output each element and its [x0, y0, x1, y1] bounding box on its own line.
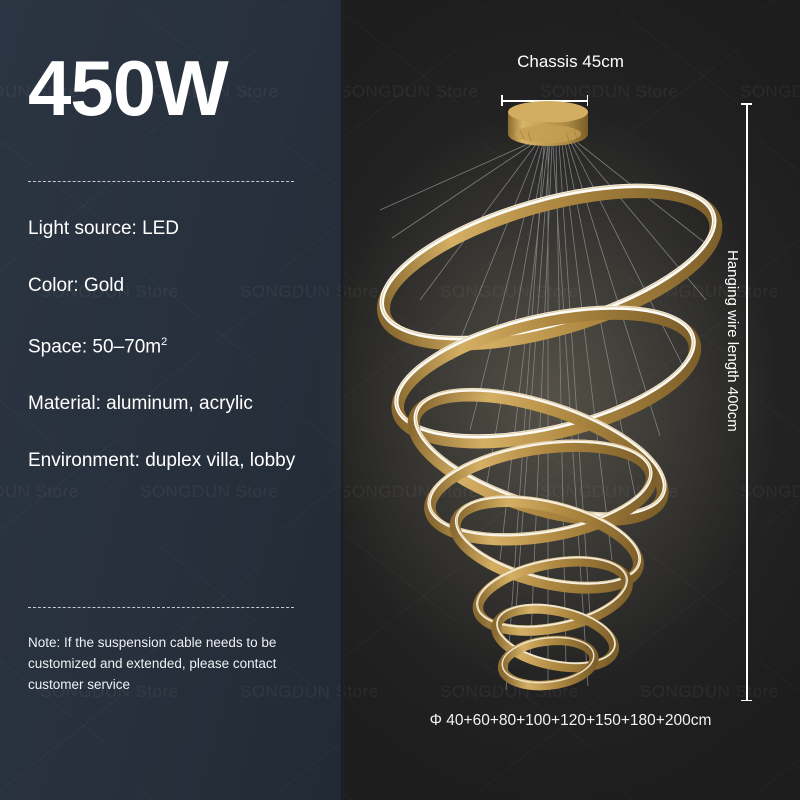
- chandelier-illustration: [0, 0, 800, 800]
- product-spec-image: SONGDUN StoreSONGDUN StoreSONGDUN StoreS…: [0, 0, 800, 800]
- hanging-wire-label: Hanging wire length 400cm: [724, 250, 741, 432]
- ring-size-caption: Φ 40+60+80+100+120+150+180+200cm: [341, 712, 800, 730]
- ceiling-canopy: [508, 101, 588, 146]
- hanging-wire-cap-bottom: [741, 700, 752, 702]
- hanging-wire-dimension-bar: [741, 103, 752, 701]
- hanging-wire-dimension-line: [746, 103, 748, 701]
